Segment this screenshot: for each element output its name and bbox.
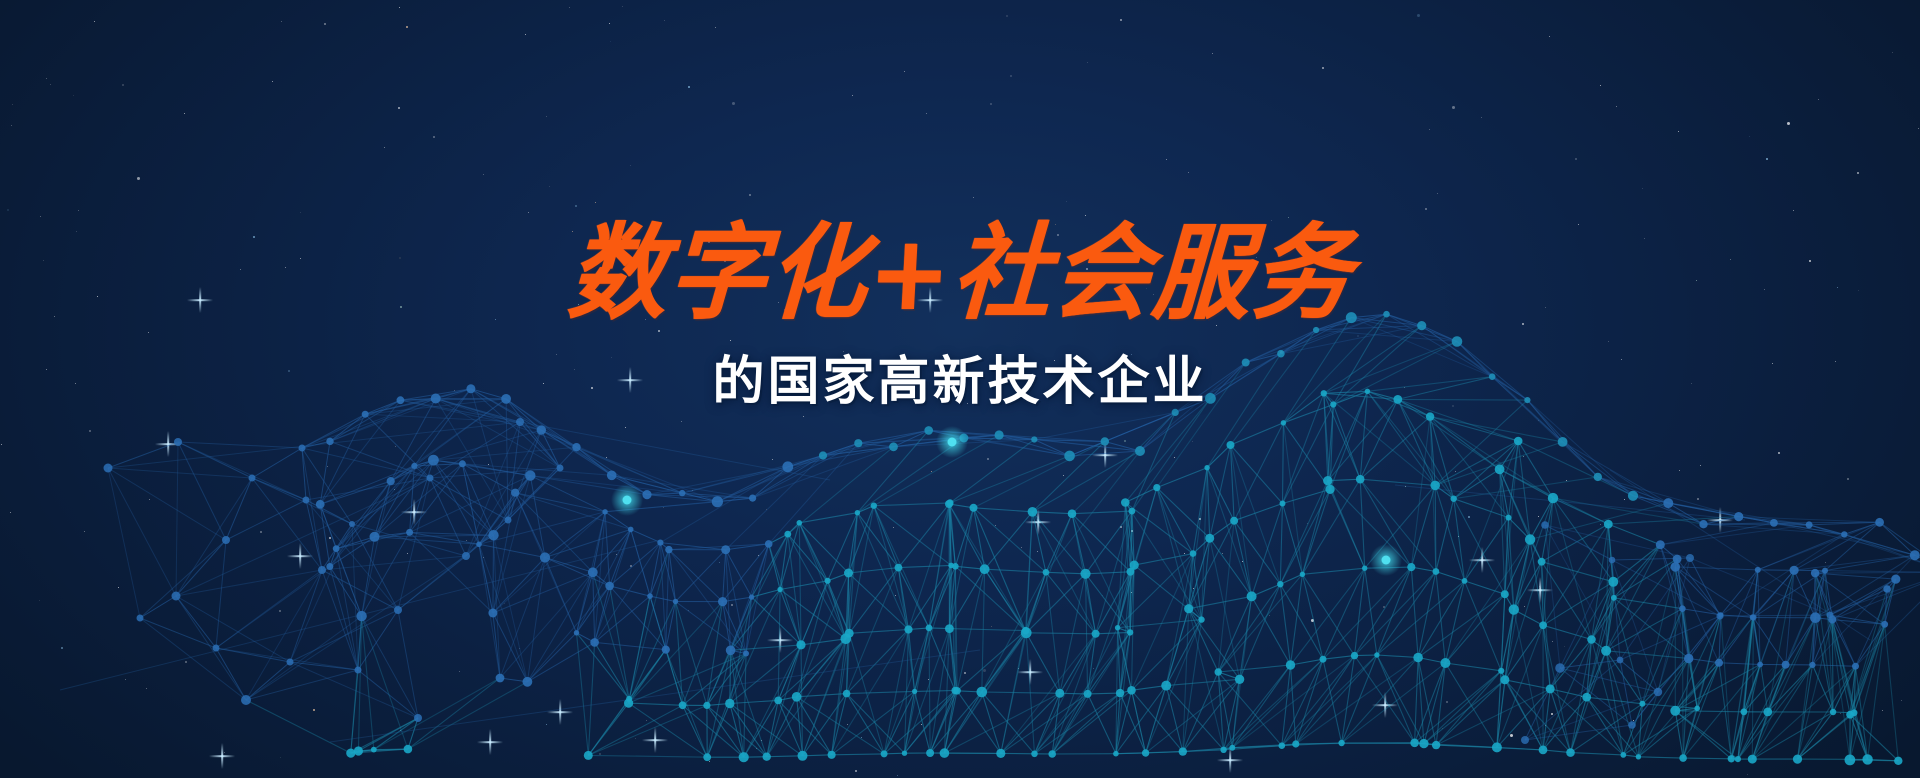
hero-banner: 数字化+社会服务 的国家高新技术企业 xyxy=(0,0,1920,778)
polygonal-network-mesh xyxy=(0,0,1920,778)
